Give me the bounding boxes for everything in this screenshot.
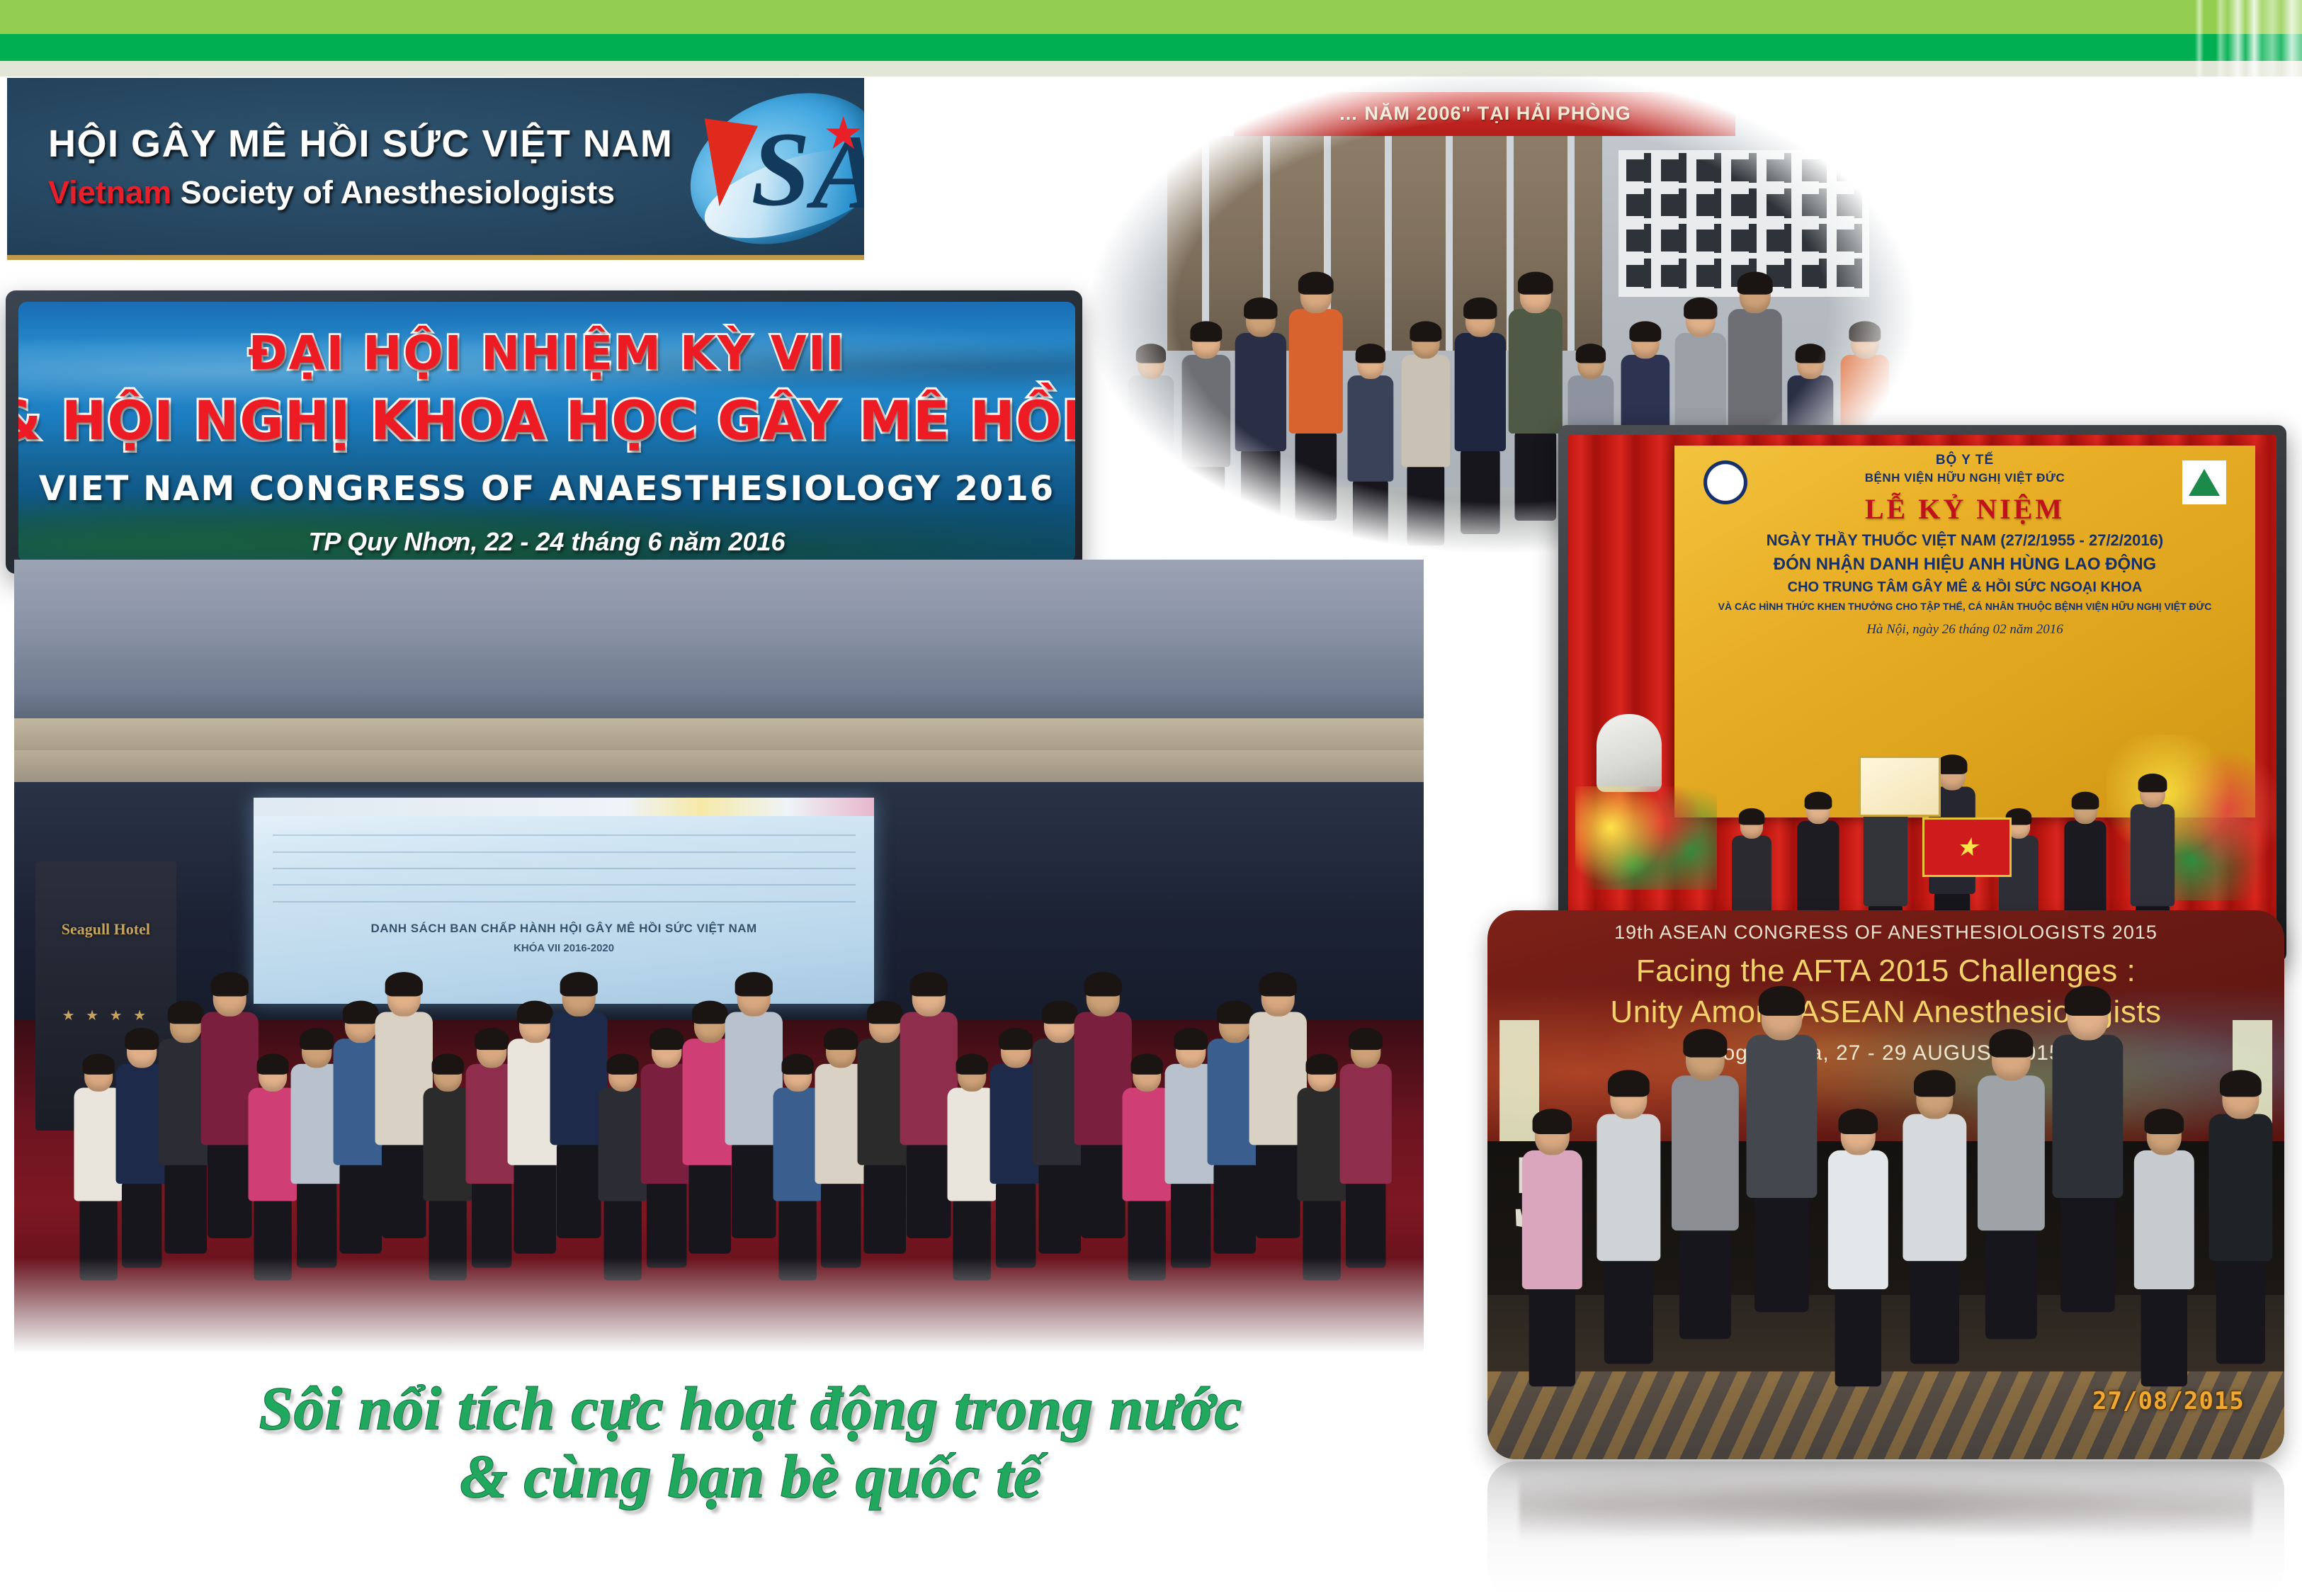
person-torso <box>2208 1114 2272 1261</box>
screen-toolbar-strip <box>254 798 874 816</box>
award-flag-plaque: ★ <box>1922 817 2012 877</box>
person-hair <box>2072 791 2099 809</box>
congress-line-2: & HỘI NGHỊ KHOA HỌC GÂY MÊ HỒI SỨC TOÀN … <box>18 389 1051 452</box>
congress-line-4: TP Quy Nhơn, 22 - 24 tháng 6 năm 2016 <box>18 527 1075 557</box>
lattice-block <box>1784 188 1792 217</box>
lattice-block <box>1854 224 1862 253</box>
society-title-english-highlight: Vietnam <box>48 174 171 210</box>
top-decorative-bars <box>0 0 2302 68</box>
congress-banner-frame: ĐẠI HỘI NHIỆM KỲ VII & HỘI NGHỊ KHOA HỌC… <box>6 290 1082 574</box>
photo-date-stamp: 27/08/2015 <box>2092 1387 2245 1415</box>
asean-photo-reflection <box>1487 1461 2284 1596</box>
person-legs <box>2215 1259 2264 1364</box>
person-torso <box>1339 1064 1390 1184</box>
person-torso <box>2065 820 2107 917</box>
asean-congress-photo: 19th ASEAN CONGRESS OF ANESTHESIOLOGISTS… <box>1487 910 2284 1459</box>
person-legs <box>1345 1182 1385 1268</box>
person-hair <box>1757 985 1803 1015</box>
lattice-block <box>1854 259 1862 288</box>
ceremony-hospital-label: BỆNH VIỆN HỮU NGHỊ VIỆT ĐỨC <box>1674 471 2255 485</box>
person-hair <box>1298 272 1334 295</box>
ceremony-line-2: ĐÓN NHẬN DANH HIỆU ANH HÙNG LAO ĐỘNG <box>1674 555 2255 575</box>
photo-cornice <box>14 718 1424 790</box>
ceremony-line-1: NGÀY THẦY THUỐC VIỆT NAM (27/2/1955 - 27… <box>1674 531 2255 550</box>
lattice-block <box>1714 224 1722 253</box>
lattice-block <box>1819 188 1827 217</box>
top-bar-dark-green <box>0 34 2302 61</box>
ceremony-photo-frame: BỘ Y TẾ BỆNH VIỆN HỮU NGHỊ VIỆT ĐỨC LỄ K… <box>1558 425 2286 962</box>
oval-red-banner: … NĂM 2006" TẠI HẢI PHÒNG <box>1234 92 1735 136</box>
ceremony-photo: BỘ Y TẾ BỆNH VIỆN HỮU NGHỊ VIỆT ĐỨC LỄ K… <box>1568 435 2277 952</box>
lattice-block <box>1679 224 1686 253</box>
person-torso <box>2130 804 2174 906</box>
lattice-block <box>1714 153 1722 182</box>
vsa-logo-icon: S A ★ <box>673 85 836 248</box>
ceremony-ministry-label: BỘ Y TẾ <box>1674 453 2255 468</box>
society-logo-banner: HỘI GÂY MÊ HỒI SỨC VIỆT NAM Vietnam Soci… <box>7 78 864 260</box>
person-figure <box>1327 1034 1404 1274</box>
lattice-block <box>1819 153 1827 182</box>
person-hair <box>909 972 947 996</box>
person-hair <box>2138 774 2167 792</box>
slide-caption: Sôi nổi tích cực hoạt động trong nước & … <box>127 1374 1374 1511</box>
person-hair <box>385 972 422 996</box>
person-hair <box>1519 272 1554 295</box>
person-hair <box>2063 985 2109 1015</box>
person-hair <box>1084 972 1121 996</box>
vsa-letter-s: S <box>751 116 810 222</box>
person-hair <box>1849 321 1881 341</box>
lattice-block <box>1749 188 1757 217</box>
ceremony-flowers-left <box>1575 786 1717 890</box>
lattice-block <box>1854 153 1862 182</box>
person-figure <box>2157 1077 2284 1437</box>
person-hair <box>1805 791 1832 809</box>
lattice-block <box>1644 153 1652 182</box>
society-title-english: Vietnam Society of Anesthesiologists <box>48 174 673 211</box>
person-hair <box>1738 272 1774 295</box>
person-hair <box>1348 1028 1382 1050</box>
person-hair <box>560 972 597 996</box>
oval-banner-text: … NĂM 2006" TẠI HẢI PHÒNG <box>1339 103 1631 125</box>
lattice-block <box>1679 259 1686 288</box>
award-certificate <box>1859 756 1941 817</box>
society-title-vietnamese: HỘI GÂY MÊ HỒI SỨC VIỆT NAM <box>48 122 673 166</box>
person-hair <box>1937 754 1967 774</box>
ho-chi-minh-bust <box>1597 714 1662 792</box>
lattice-block <box>1679 188 1686 217</box>
caption-line-1: Sôi nổi tích cực hoạt động trong nước <box>127 1374 1374 1442</box>
lattice-block <box>1679 153 1686 182</box>
congress-line-3: VIET NAM CONGRESS OF ANAESTHESIOLOGY 201… <box>18 469 1075 509</box>
ceremony-headline: LỄ KỶ NIỆM <box>1674 492 2255 526</box>
society-title-english-rest: Society of Anesthesiologists <box>171 174 615 210</box>
asean-line-1: 19th ASEAN CONGRESS OF ANESTHESIOLOGISTS… <box>1487 922 2284 944</box>
congress-banner-text-block: ĐẠI HỘI NHIỆM KỲ VII & HỘI NGHỊ KHOA HỌC… <box>18 302 1075 562</box>
lattice-block <box>1784 153 1792 182</box>
lattice-block <box>1644 224 1652 253</box>
lattice-block <box>1784 224 1792 253</box>
person-hair <box>1259 972 1296 996</box>
hospital-logo-icon <box>2182 460 2226 504</box>
congress-line-1: ĐẠI HỘI NHIỆM KỲ VII <box>18 326 1075 380</box>
person-torso <box>1798 820 1839 917</box>
lattice-block <box>1714 188 1722 217</box>
flag-star-icon: ★ <box>1956 834 1978 860</box>
ceremony-line-3: CHO TRUNG TÂM GÂY MÊ & HỒI SỨC NGOẠI KHO… <box>1674 579 2255 596</box>
main-congress-group-photo: DANH SÁCH BAN CHẤP HÀNH HỘI GÂY MÊ HỒI S… <box>14 560 1424 1353</box>
congress-banner: ĐẠI HỘI NHIỆM KỲ VII & HỘI NGHỊ KHOA HỌC… <box>18 302 1075 562</box>
top-bar-stripe-pattern <box>2153 0 2302 77</box>
person-hair <box>210 972 248 996</box>
person-hair <box>735 972 772 996</box>
ministry-of-health-logo-icon <box>1703 460 1747 504</box>
asean-line-2: Facing the AFTA 2015 Challenges : <box>1487 953 2284 989</box>
person-hair <box>1739 808 1765 825</box>
person-hair <box>2219 1070 2261 1097</box>
lattice-block <box>1819 259 1827 288</box>
lattice-block <box>1644 188 1652 217</box>
top-bar-light-green <box>0 0 2302 34</box>
lattice-block <box>1644 259 1652 288</box>
lattice-block <box>1749 224 1757 253</box>
photo-group-of-delegates <box>71 877 1382 1274</box>
lattice-block <box>1854 188 1862 217</box>
society-banner-text: HỘI GÂY MÊ HỒI SỨC VIỆT NAM Vietnam Soci… <box>7 122 673 211</box>
caption-line-2: & cùng bạn bè quốc tế <box>127 1442 1374 1510</box>
ceremony-line-4: VÀ CÁC HÌNH THỨC KHEN THƯỞNG CHO TẬP THỂ… <box>1674 601 2255 612</box>
lattice-block <box>1819 224 1827 253</box>
lattice-block <box>1749 153 1757 182</box>
ceremony-place-date: Hà Nội, ngày 26 tháng 02 năm 2016 <box>1674 622 2255 638</box>
